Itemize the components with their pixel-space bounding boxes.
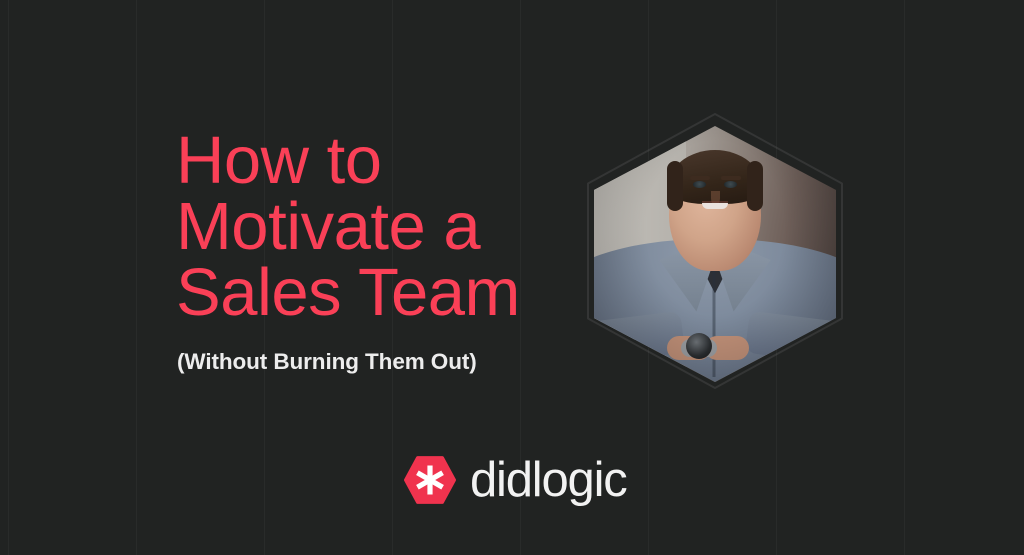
page-title: How to Motivate a Sales Team bbox=[176, 128, 596, 326]
title-line-3: Sales Team bbox=[176, 260, 596, 326]
cover-canvas: How to Motivate a Sales Team (Without Bu… bbox=[0, 0, 1024, 555]
didlogic-wordmark: didlogic bbox=[470, 456, 627, 505]
didlogic-logo[interactable]: didlogic bbox=[404, 452, 627, 508]
title-line-2: Motivate a bbox=[176, 194, 596, 260]
hexagon-icon bbox=[404, 456, 456, 504]
portrait-frame bbox=[586, 112, 844, 390]
didlogic-hexagon-asterisk-icon bbox=[404, 456, 456, 504]
title-line-1: How to bbox=[176, 128, 596, 194]
page-subtitle: (Without Burning Them Out) bbox=[177, 348, 477, 376]
